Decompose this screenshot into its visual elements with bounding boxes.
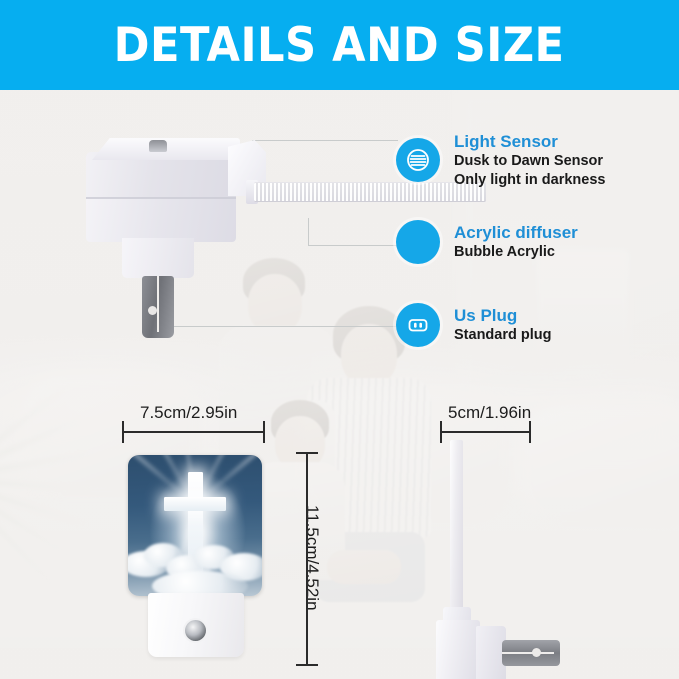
callout-light-sensor: Light Sensor Dusk to Dawn Sensor Only li… bbox=[396, 131, 605, 189]
callout-us-plug-text: Us Plug Standard plug bbox=[454, 305, 551, 345]
side-panel-edge bbox=[450, 440, 463, 615]
dimension-cap-width-left bbox=[122, 421, 124, 443]
product-plug-neck bbox=[122, 238, 194, 278]
us-plug-icon bbox=[396, 303, 440, 347]
dimension-label-depth: 5cm/1.96in bbox=[448, 403, 531, 423]
dimension-cap-width-right bbox=[263, 421, 265, 443]
side-housing-body bbox=[436, 620, 480, 679]
dimension-label-height: 11.5cm/4.52in bbox=[302, 505, 322, 611]
us-plug-prong-gap bbox=[157, 276, 159, 332]
product-detail-image: DETAILS AND SIZE bbox=[0, 0, 679, 679]
callout-acrylic-diffuser: Acrylic diffuser Bubble Acrylic bbox=[396, 220, 578, 264]
callout-light-sensor-text: Light Sensor Dusk to Dawn Sensor Only li… bbox=[454, 131, 605, 189]
callout-subtitle-1: Standard plug bbox=[454, 326, 551, 344]
callout-subtitle-1: Dusk to Dawn Sensor bbox=[454, 152, 605, 170]
product-angled-view bbox=[86, 138, 416, 333]
cross-horizontal-beam bbox=[164, 497, 226, 511]
product-housing-seam bbox=[86, 197, 236, 199]
callout-us-plug: Us Plug Standard plug bbox=[396, 303, 551, 347]
us-plug-prong-hole bbox=[148, 306, 157, 315]
cross-light-panel bbox=[128, 455, 262, 596]
product-side-profile bbox=[440, 440, 560, 662]
callout-title: Acrylic diffuser bbox=[454, 222, 578, 243]
callout-subtitle-2: Only light in darkness bbox=[454, 171, 605, 189]
product-cross-night-light bbox=[128, 455, 262, 660]
dimension-line-width bbox=[122, 431, 264, 433]
dimension-line-height bbox=[306, 452, 308, 665]
header-banner: DETAILS AND SIZE bbox=[0, 0, 679, 90]
dimension-cap-height-top bbox=[296, 452, 318, 454]
dimension-label-width: 7.5cm/2.95in bbox=[140, 403, 237, 423]
callout-acrylic-diffuser-text: Acrylic diffuser Bubble Acrylic bbox=[454, 222, 578, 262]
cross-light-sensor bbox=[185, 620, 206, 641]
side-us-plug-prong-gap bbox=[502, 652, 554, 654]
light-sensor-icon bbox=[396, 138, 440, 182]
product-housing-lower bbox=[86, 198, 236, 242]
callout-title: Us Plug bbox=[454, 305, 551, 326]
dimension-line-depth bbox=[440, 431, 530, 433]
callout-title: Light Sensor bbox=[454, 131, 605, 152]
dimension-cap-height-bottom bbox=[296, 664, 318, 666]
side-us-plug-prong-hole bbox=[532, 648, 541, 657]
callout-subtitle-1: Bubble Acrylic bbox=[454, 243, 578, 261]
light-sensor-component bbox=[149, 140, 167, 152]
acrylic-diffuser-icon bbox=[396, 220, 440, 264]
page-title: DETAILS AND SIZE bbox=[114, 18, 565, 73]
